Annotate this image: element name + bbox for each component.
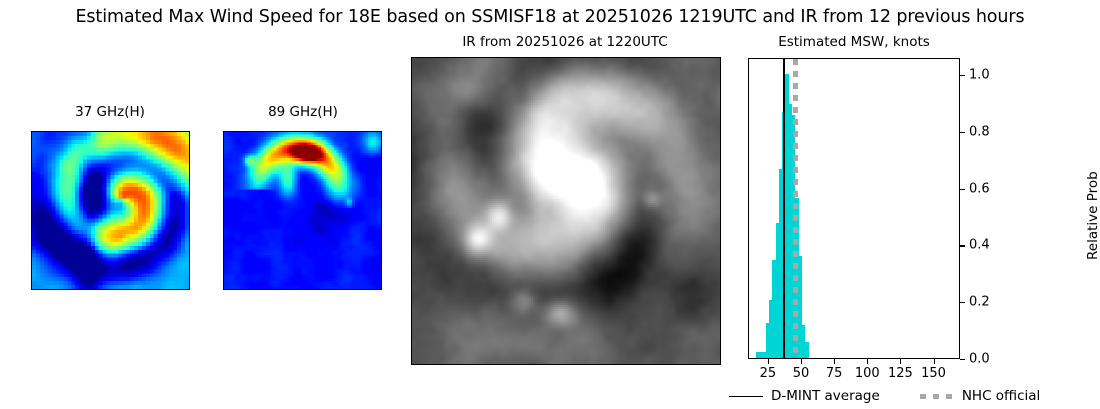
legend-label-nhc: NHC official [962,388,1040,404]
y-axis-tick-label: 0.0 [969,352,990,367]
dmint-average-line [783,59,785,358]
x-axis-tick [934,359,935,364]
figure-canvas: Estimated Max Wind Speed for 18E based o… [0,0,1100,409]
y-axis-tick [960,302,965,303]
histogram-bar [805,342,808,358]
y-axis-tick-label: 0.4 [969,238,990,253]
x-axis-tick-label: 25 [760,366,777,381]
y-axis-tick [960,189,965,190]
ir-satellite-image [411,57,721,365]
y-axis-tick-label: 0.8 [969,124,990,139]
x-axis-tick-label: 100 [855,366,880,381]
microwave-89-title: 89 GHz(H) [223,104,383,120]
x-axis-tick [801,359,802,364]
x-axis-tick [834,359,835,364]
x-axis-tick [867,359,868,364]
microwave-37-canvas [32,132,189,289]
y-axis-tick-label: 0.6 [969,181,990,196]
y-axis-tick-label: 1.0 [969,68,990,83]
x-axis-tick-label: 125 [888,366,913,381]
y-axis-tick [960,245,965,246]
ir-panel-title: IR from 20251026 at 1220UTC [411,34,719,50]
histogram-title: Estimated MSW, knots [748,34,960,50]
ir-canvas [412,58,720,364]
y-axis-label: Relative Prob [1085,171,1100,260]
y-axis-tick-label: 0.2 [969,295,990,310]
microwave-89-image [223,131,382,290]
x-axis-tick-label: 150 [921,366,946,381]
dotted-line-icon [920,394,954,399]
y-axis-tick [960,359,965,360]
legend-label-dmint: D-MINT average [771,388,880,404]
y-axis-tick [960,132,965,133]
microwave-37-image [31,131,190,290]
x-axis-tick-label: 50 [793,366,810,381]
microwave-37-title: 37 GHz(H) [30,104,190,120]
legend-entry-dmint: D-MINT average [729,388,880,404]
chart-legend: D-MINT average NHC official [729,388,1040,404]
histogram-axes [748,58,960,359]
legend-entry-nhc: NHC official [920,388,1040,404]
figure-title: Estimated Max Wind Speed for 18E based o… [0,6,1100,28]
nhc-official-line [793,59,798,358]
y-axis-tick [960,75,965,76]
x-axis-tick [768,359,769,364]
x-axis-tick-label: 75 [826,366,843,381]
histogram-plot-area [749,59,959,358]
x-axis-tick [900,359,901,364]
solid-line-icon [729,396,763,397]
microwave-89-canvas [224,132,381,289]
